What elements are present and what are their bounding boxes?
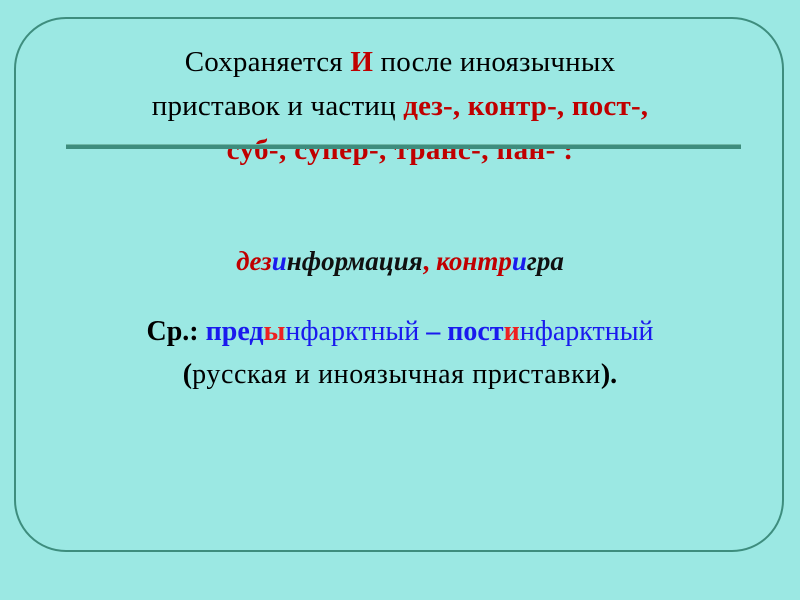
example-1-word-1-vowel: и [272, 246, 287, 276]
example-2-word-1-vowel: ы [264, 316, 286, 347]
rule-line-1-part-b: после иноязычных [373, 46, 615, 78]
example-1-word-2-prefix: контр [436, 246, 512, 276]
example-2-dash: – [419, 316, 447, 347]
example-line-note: (русская и иноязычная приставки). [40, 356, 760, 394]
example-1-separator: , [423, 246, 437, 276]
example-1-word-2-vowel: и [512, 246, 527, 276]
rule-line-2: приставок и частиц дез-, контр-, пост-, [40, 84, 760, 128]
example-2-word-1-prefix: пред [206, 316, 264, 347]
horizontal-divider-rule [66, 144, 741, 149]
rule-line-1-highlight-letter: И [350, 46, 373, 78]
rule-header-block: Сохраняется И после иноязычных приставок… [40, 40, 760, 172]
example-2-word-2-vowel: и [504, 316, 520, 347]
comparison-lead-label: Ср.: [146, 316, 198, 347]
note-close-paren: ). [601, 359, 617, 390]
rule-line-2-part-a: приставок и частиц [152, 90, 404, 122]
example-line-words: дезинформация, контригра [40, 243, 760, 279]
example-2-word-2-prefix: пост [447, 316, 503, 347]
example-2-word-1-rest: нфарктный [285, 316, 419, 347]
example-2-word-2-rest: нфарктный [520, 316, 654, 347]
rule-line-1-part-a: Сохраняется [185, 46, 351, 78]
rule-line-1: Сохраняется И после иноязычных [40, 40, 760, 84]
slide-content: Сохраняется И после иноязычных приставок… [0, 0, 800, 600]
example-1-word-1-prefix: дез [236, 246, 272, 276]
example-1-word-1-rest: нформация [287, 246, 423, 276]
note-open-paren: ( [183, 359, 192, 390]
example-1-word-2-rest: гра [527, 246, 564, 276]
slide-canvas: Сохраняется И после иноязычных приставок… [0, 0, 800, 600]
example-line-comparison: Ср.: предынфарктный – постинфарктный [40, 313, 760, 351]
note-text: русская и иноязычная приставки [192, 359, 601, 390]
rule-line-3-prefixes: суб-, супер-, транс-, пан- : [40, 128, 760, 172]
rule-line-2-prefixes: дез-, контр-, пост-, [403, 90, 648, 122]
